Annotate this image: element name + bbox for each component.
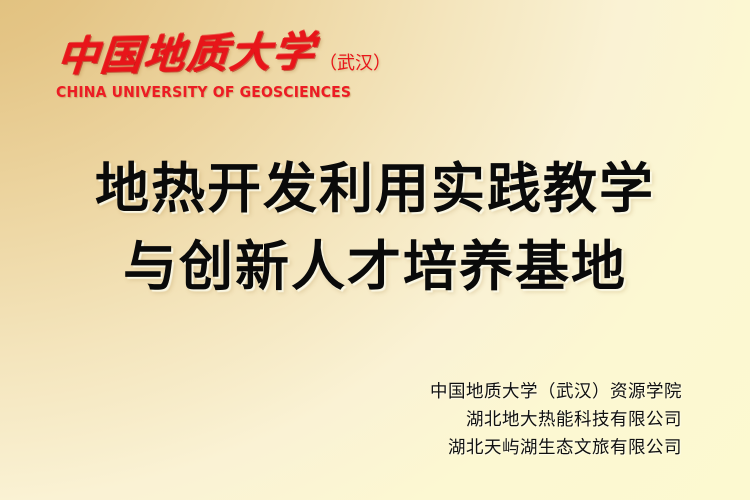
logo-chinese-name: 中国地质大学 — [56, 32, 318, 78]
university-logo: 中国地质大学 （武汉） CHINA UNIVERSITY OF GEOSCIEN… — [56, 22, 396, 106]
title-slide: 中国地质大学 （武汉） CHINA UNIVERSITY OF GEOSCIEN… — [0, 0, 750, 500]
organization-list: 中国地质大学（武汉）资源学院 湖北地大热能科技有限公司 湖北天屿湖生态文旅有限公… — [430, 378, 682, 462]
page-title: 地热开发利用实践教学 与创新人才培养基地 — [0, 150, 750, 306]
title-line-2: 与创新人才培养基地 — [0, 228, 750, 306]
logo-english-name: CHINA UNIVERSITY OF GEOSCIENCES — [56, 83, 369, 101]
organization-line: 中国地质大学（武汉）资源学院 — [430, 378, 682, 406]
logo-chinese-row: 中国地质大学 （武汉） — [56, 22, 396, 78]
organization-line: 湖北天屿湖生态文旅有限公司 — [430, 434, 682, 462]
logo-campus-label: （武汉） — [319, 55, 391, 78]
title-line-1: 地热开发利用实践教学 — [0, 150, 750, 228]
organization-line: 湖北地大热能科技有限公司 — [430, 406, 682, 434]
